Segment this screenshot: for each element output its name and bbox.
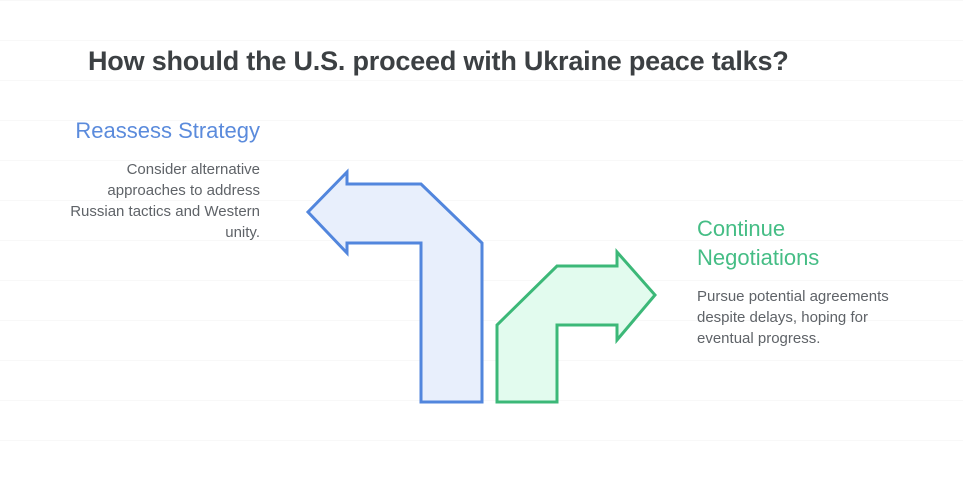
option-body-continue-negotiations: Pursue potential agreements despite dela… [697,286,897,349]
arrow-reassess-strategy [308,172,482,402]
infographic-canvas: How should the U.S. proceed with Ukraine… [0,0,963,480]
option-reassess-strategy: Reassess Strategy Consider alternative a… [60,116,260,243]
option-body-reassess-strategy: Consider alternative approaches to addre… [60,159,260,243]
option-continue-negotiations: Continue Negotiations Pursue potential a… [697,214,897,349]
arrow-continue-negotiations [497,252,655,402]
option-heading-reassess-strategy: Reassess Strategy [60,116,260,145]
option-heading-continue-negotiations: Continue Negotiations [697,214,897,272]
